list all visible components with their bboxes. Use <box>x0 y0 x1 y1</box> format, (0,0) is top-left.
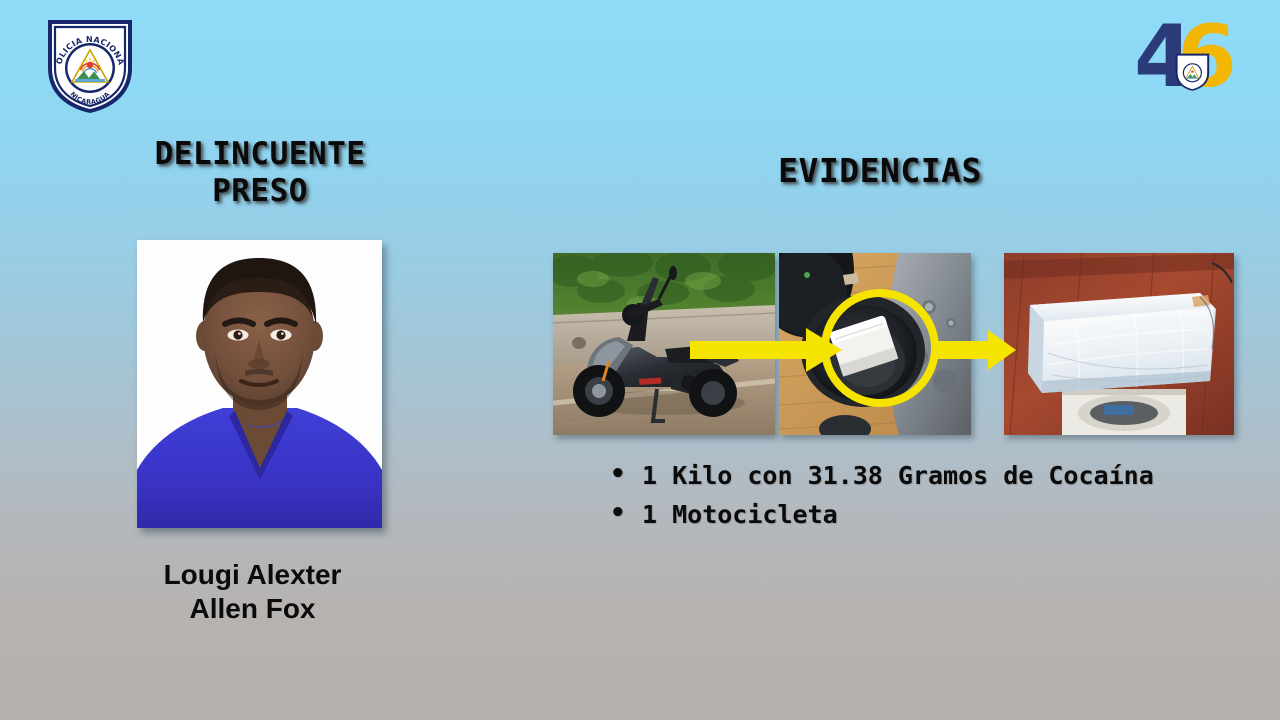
photo-cocaine-brick-image <box>1004 253 1234 435</box>
evidence-item: 1 Motocicleta <box>600 497 1200 534</box>
evidence-item: 1 Kilo con 31.38 Gramos de Cocaína <box>600 458 1200 495</box>
photo-compartment-image <box>779 253 971 435</box>
anniversary-number-graphic: 4 6 <box>1132 10 1250 106</box>
suspect-mugshot <box>137 240 382 528</box>
anniversary-46-logo: 4 6 <box>1132 10 1250 106</box>
police-badge: POLICIA NACIONAL NICARAGUA <box>44 16 136 114</box>
suspect-photo-image <box>137 240 382 528</box>
evidence-photo-motorcycle <box>553 253 775 435</box>
page-title-detainee: DELINCUENTE PRESO <box>60 136 460 209</box>
evidence-photo-compartment <box>779 253 971 435</box>
evidence-photo-cocaine-brick <box>1004 253 1234 435</box>
photo-motorcycle-image <box>553 253 775 435</box>
police-shield-icon: POLICIA NACIONAL NICARAGUA <box>44 16 136 114</box>
suspect-name: Lougi Alexter Allen Fox <box>60 558 445 625</box>
evidence-item-list: 1 Kilo con 31.38 Gramos de Cocaína 1 Mot… <box>600 458 1200 535</box>
page-title-evidence: EVIDENCIAS <box>660 152 1100 191</box>
